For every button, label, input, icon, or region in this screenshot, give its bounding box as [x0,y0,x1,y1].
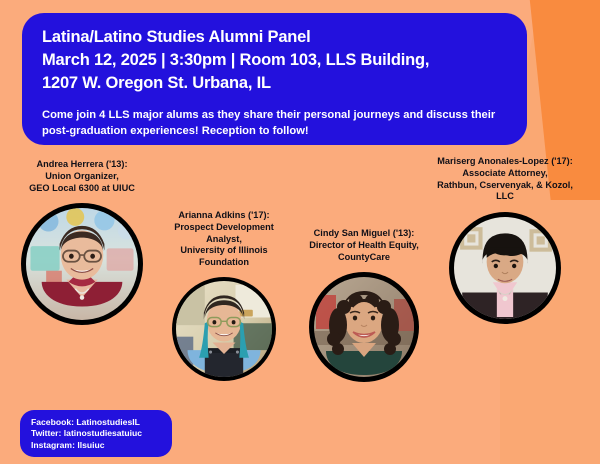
portrait-illustration [26,208,138,320]
panelist-photo-ring [172,277,276,381]
panelist-photo [26,208,138,320]
panelist-caption: Mariserg Anonales-Lopez ('17): Associate… [412,156,598,203]
panelist-photo [454,217,556,319]
panelist-photo-ring [309,272,419,382]
event-header-card: Latina/Latino Studies Alumni Panel March… [22,13,527,145]
event-datetime-location: March 12, 2025 | 3:30pm | Room 103, LLS … [42,49,507,72]
panelist-caption: Andrea Herrera ('13): Union Organizer, G… [2,159,162,194]
portrait-illustration [176,281,272,377]
event-title: Latina/Latino Studies Alumni Panel [42,26,507,49]
panelist-photo-ring [449,212,561,324]
panelist-card-andrea-herrera: Andrea Herrera ('13): Union Organizer, G… [2,159,162,325]
event-poster: Latina/Latino Studies Alumni Panel March… [0,0,600,464]
panelist-photo [176,281,272,377]
event-description: Come join 4 LLS major alums as they shar… [42,107,507,139]
portrait-illustration [314,277,414,377]
panelist-card-mariserg-anonales-lopez: Mariserg Anonales-Lopez ('17): Associate… [412,156,598,324]
panelist-card-arianna-adkins: Arianna Adkins ('17): Prospect Developme… [148,210,300,381]
event-address: 1207 W. Oregon St. Urbana, IL [42,72,507,95]
panelist-photo-ring [21,203,143,325]
portrait-illustration [454,217,556,319]
panelist-photo [314,277,414,377]
social-instagram: Instagram: llsuiuc [31,440,172,451]
social-media-card: Facebook: LatinostudiesIL Twitter: latin… [20,410,172,457]
social-twitter: Twitter: latinostudiesatuiuc [31,428,172,439]
social-facebook: Facebook: LatinostudiesIL [31,417,172,428]
panelist-caption: Arianna Adkins ('17): Prospect Developme… [148,210,300,269]
